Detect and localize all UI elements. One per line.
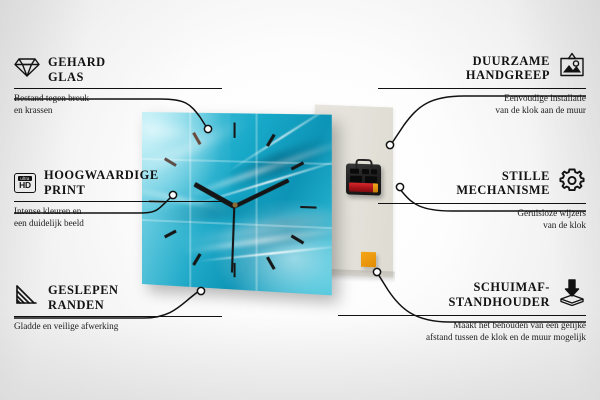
- feature-desc-line2: een duidelijk beeld: [14, 218, 222, 229]
- feature-hoogwaardige-print: ultra HD HOOGWAARDIGE PRINT Intense kleu…: [14, 168, 222, 229]
- diamond-icon: [14, 56, 40, 83]
- ultra-hd-icon: ultra HD: [14, 173, 36, 193]
- clock-center-pin: [232, 202, 237, 207]
- foam-spacer: [361, 252, 376, 268]
- feature-desc-line1: Intense kleuren en: [14, 206, 222, 217]
- hanging-picture-icon: [558, 52, 586, 84]
- feature-header: ultra HD HOOGWAARDIGE PRINT: [14, 168, 222, 197]
- gear-icon: [558, 167, 586, 199]
- feature-duurzame-handgreep: DUURZAME HANDGREEP Eenvoudige installati…: [378, 52, 586, 116]
- movement-hanger: [355, 159, 372, 170]
- feature-gehard-glas: GEHARD GLAS Bestand tegen breuk en krass…: [14, 55, 222, 116]
- feature-description: Geruisloze wijzers van de klok: [378, 208, 586, 231]
- feature-title-line1: DUURZAME: [466, 54, 550, 69]
- feature-title-line1: GESLEPEN: [48, 283, 119, 298]
- clock-movement: [346, 163, 381, 195]
- spacer-standoff-icon: [558, 278, 586, 311]
- glass-grid-line: [256, 114, 258, 291]
- feature-divider: [378, 88, 586, 89]
- hour-tick-3: [300, 206, 316, 209]
- hour-tick-12: [233, 122, 235, 137]
- feature-title: GESLEPEN RANDEN: [48, 283, 119, 312]
- feature-desc-line2: afstand tussen de klok en de muur mogeli…: [338, 332, 586, 343]
- feature-desc-line1: Bestand tegen breuk: [14, 93, 222, 104]
- feature-desc-line1: Eenvoudige installatie: [378, 93, 586, 104]
- feature-description: Intense kleuren en een duidelijk beeld: [14, 206, 222, 229]
- feature-header: DUURZAME HANDGREEP: [378, 52, 586, 84]
- feature-desc-line1: Maakt het behouden van een gelijke: [338, 320, 586, 331]
- feature-title-line1: SCHUIMAF-: [448, 280, 550, 295]
- feature-title-line2: GLAS: [48, 70, 106, 85]
- feature-description: Gladde en veilige afwerking: [14, 321, 222, 332]
- feature-divider: [14, 316, 222, 317]
- feature-title: HOOGWAARDIGE PRINT: [44, 168, 159, 197]
- feature-stille-mechanisme: STILLE MECHANISME Geruisloze wijzers van…: [378, 167, 586, 231]
- feature-description: Maakt het behouden van een gelijke afsta…: [338, 320, 586, 343]
- feature-header: GEHARD GLAS: [14, 55, 222, 84]
- feature-divider: [338, 315, 586, 316]
- feature-title-line1: STILLE: [456, 169, 550, 184]
- feature-desc-line2: en krassen: [14, 105, 222, 116]
- feature-title-line2: HANDGREEP: [466, 68, 550, 83]
- feature-desc-line1: Gladde en veilige afwerking: [14, 321, 222, 332]
- feature-title-line2: STANDHOUDER: [448, 295, 550, 310]
- feature-divider: [378, 203, 586, 204]
- feature-title: DUURZAME HANDGREEP: [466, 54, 550, 83]
- feature-description: Bestand tegen breuk en krassen: [14, 93, 222, 116]
- feature-title-line2: RANDEN: [48, 298, 119, 313]
- feature-desc-line2: van de klok: [378, 220, 586, 231]
- feature-title-line1: HOOGWAARDIGE: [44, 168, 159, 183]
- movement-slot: [362, 169, 369, 174]
- feature-header: SCHUIMAF- STANDHOUDER: [338, 278, 586, 311]
- feature-description: Eenvoudige installatie van de klok aan d…: [378, 93, 586, 116]
- feature-header: STILLE MECHANISME: [378, 167, 586, 199]
- feature-divider: [14, 201, 222, 202]
- movement-slot: [371, 169, 377, 174]
- feature-divider: [14, 88, 222, 89]
- feature-schuimafstandhouder: SCHUIMAF- STANDHOUDER Maakt het behouden…: [338, 278, 586, 343]
- feature-title: GEHARD GLAS: [48, 55, 106, 84]
- beveled-edge-icon: [14, 284, 40, 311]
- feature-header: GESLEPEN RANDEN: [14, 283, 222, 312]
- battery: [349, 182, 378, 192]
- feature-geslepen-randen: GESLEPEN RANDEN Gladde en veilige afwerk…: [14, 283, 222, 333]
- feature-title: SCHUIMAF- STANDHOUDER: [448, 280, 550, 309]
- feature-title-line2: MECHANISME: [456, 183, 550, 198]
- feature-desc-line1: Geruisloze wijzers: [378, 208, 586, 219]
- feature-desc-line2: van de klok aan de muur: [378, 105, 586, 116]
- feature-title-line2: PRINT: [44, 183, 159, 198]
- feature-title-line1: GEHARD: [48, 55, 106, 70]
- hd-text: HD: [19, 181, 31, 190]
- feature-title: STILLE MECHANISME: [456, 169, 550, 198]
- hour-tick-6: [233, 263, 235, 277]
- infographic-canvas: GEHARD GLAS Bestand tegen breuk en krass…: [0, 0, 600, 400]
- movement-slot: [350, 169, 359, 174]
